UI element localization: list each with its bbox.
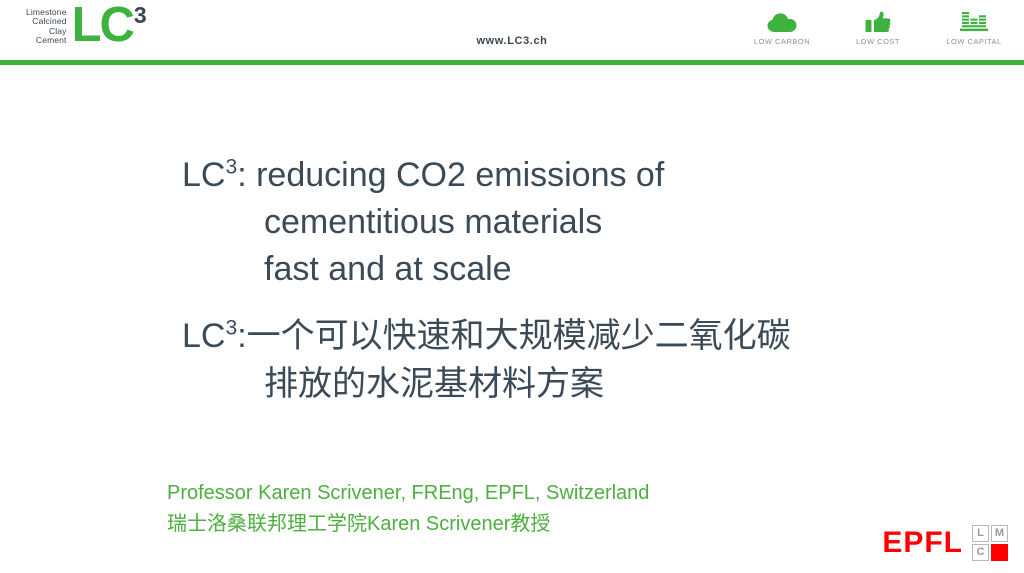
- title-cn-text-1: 一个可以快速和大规模减少二氧化碳: [247, 317, 791, 355]
- title-lc-superscript: 3: [225, 156, 237, 179]
- bar-chart-icon: [959, 8, 989, 34]
- title-cn-lc-letters: LC: [182, 317, 225, 355]
- lmc-cell-solid: [991, 544, 1008, 561]
- feature-label-low-carbon: LOW CARBON: [754, 37, 810, 46]
- author-line-chinese: 瑞士洛桑联邦理工学院Karen Scrivener教授: [167, 509, 649, 540]
- thumbs-up-icon: [865, 8, 891, 34]
- title-block-chinese: LC3:一个可以快速和大规模减少二氧化碳 排放的水泥基材料方案: [182, 312, 942, 408]
- lmc-cell-l: L: [972, 525, 989, 542]
- feature-label-low-cost: LOW COST: [856, 37, 900, 46]
- feature-low-capital: LOW CAPITAL: [938, 8, 1010, 46]
- title-line-1: LC3: reducing CO2 emissions of: [182, 152, 882, 199]
- header-divider: [0, 60, 1024, 65]
- title-cn-line-2: 排放的水泥基材料方案: [182, 360, 942, 408]
- feature-label-low-capital: LOW CAPITAL: [946, 37, 1001, 46]
- slide: Limestone Calcined Clay Cement LC 3 www.…: [0, 0, 1024, 573]
- lmc-cell-m: M: [991, 525, 1008, 542]
- title-lc-letters: LC: [182, 156, 225, 194]
- title-cn-line-1: LC3:一个可以快速和大规模减少二氧化碳: [182, 312, 942, 360]
- title-text-1: reducing CO2 emissions of: [256, 156, 664, 194]
- title-colon: :: [237, 156, 256, 194]
- author-block: Professor Karen Scrivener, FREng, EPFL, …: [167, 478, 649, 540]
- title-line-3: fast and at scale: [182, 246, 882, 293]
- feature-low-cost: LOW COST: [842, 8, 914, 46]
- feature-icon-group: LOW CARBON LOW COST: [746, 8, 1010, 46]
- epfl-logo: EPFL L M C: [882, 525, 1008, 561]
- lmc-cell-c: C: [972, 544, 989, 561]
- lmc-lab-logo: L M C: [972, 525, 1008, 561]
- title-cn-colon: :: [237, 317, 246, 355]
- feature-low-carbon: LOW CARBON: [746, 8, 818, 46]
- lc3-mark-superscript: 3: [134, 4, 147, 27]
- title-line-2: cementitious materials: [182, 199, 882, 246]
- slide-header: Limestone Calcined Clay Cement LC 3 www.…: [0, 0, 1024, 60]
- cloud-icon: [767, 8, 797, 34]
- title-block-english: LC3: reducing CO2 emissions of cementiti…: [182, 152, 882, 293]
- epfl-wordmark: EPFL: [882, 528, 963, 558]
- author-line-english: Professor Karen Scrivener, FREng, EPFL, …: [167, 478, 649, 509]
- title-cn-lc-superscript: 3: [225, 317, 237, 340]
